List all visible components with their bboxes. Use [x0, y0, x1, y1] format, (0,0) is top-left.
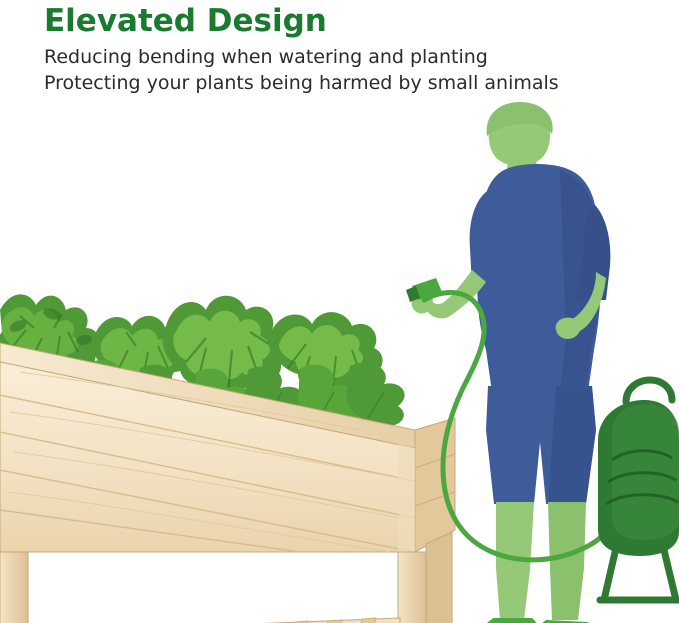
feature-line-1: Reducing bending when watering and plant… — [44, 44, 644, 70]
leg-right-back — [426, 532, 452, 623]
hose-reel-handle — [626, 380, 672, 402]
page-title: Elevated Design — [44, 2, 644, 40]
feature-line-2: Protecting your plants being harmed by s… — [44, 70, 644, 96]
person-sandal-left — [483, 618, 538, 623]
person-shorts-shade — [548, 386, 596, 504]
scene-illustration — [0, 100, 679, 623]
hose-reel — [598, 380, 679, 600]
leg-left — [0, 552, 28, 623]
leg-right-front — [398, 552, 426, 623]
bed-right-end-panel — [415, 418, 455, 552]
bed-corner-post — [398, 444, 415, 552]
scene-svg — [0, 100, 679, 623]
person-leg-right — [548, 502, 586, 620]
headline-block: Elevated Design Reducing bending when wa… — [44, 2, 644, 96]
product-feature-image: Elevated Design Reducing bending when wa… — [0, 0, 679, 623]
